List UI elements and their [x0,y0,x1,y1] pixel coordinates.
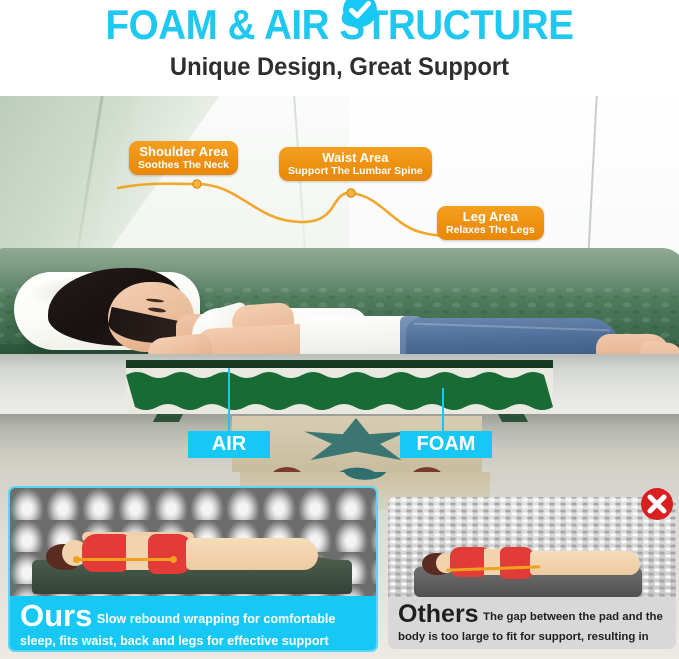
badge-waist-area: Waist Area Support The Lumbar Spine [279,147,432,181]
badge-leg-area: Leg Area Relaxes The Legs [437,206,544,240]
badge-waist-title: Waist Area [288,150,423,165]
others-figure-legs [530,551,640,575]
others-figure-swimsuit-bottom [500,547,534,579]
ours-caption: Ours Slow rebound wrapping for comfortab… [10,596,376,652]
ours-figure-swimsuit-top [82,534,130,572]
ours-spine-dot-hip [170,556,177,563]
others-label: Others [398,600,479,628]
others-figure-swimsuit-top [450,547,488,577]
pad-edge-right [498,414,528,422]
x-icon [640,487,674,521]
infographic-page: Shoulder Area Soothes The Neck Waist Are… [0,0,679,659]
cross-section-body [126,368,553,414]
badge-shoulder-title: Shoulder Area [138,144,229,159]
ours-figure-legs [186,538,318,570]
others-caption: Others The gap between the pad and the b… [388,597,676,649]
foam-wave-layer [126,368,553,414]
badge-leg-title: Leg Area [446,209,535,224]
label-air: AIR [188,431,270,458]
label-foam: FOAM [400,431,492,458]
badge-leg-subtitle: Relaxes The Legs [446,224,535,236]
panel-ours: Ours Slow rebound wrapping for comfortab… [8,486,378,652]
page-title: FOAM & AIR STRUCTURE [27,2,652,48]
check-icon [342,0,378,28]
badge-waist-subtitle: Support The Lumbar Spine [288,165,423,177]
pad-edge-left [153,414,183,422]
ours-label: Ours [20,598,92,633]
foam-pointer-line [442,388,444,434]
page-subtitle: Unique Design, Great Support [17,52,662,82]
header: FOAM & AIR STRUCTURE Unique Design, Grea… [0,0,679,96]
badge-shoulder-subtitle: Soothes The Neck [138,159,229,171]
air-pointer-line [228,368,230,434]
pad-cross-section [0,360,679,472]
ours-spine-alignment-line [76,558,176,561]
ours-spine-dot-head [73,556,80,563]
panel-others: Others The gap between the pad and the b… [388,497,676,649]
badge-shoulder-area: Shoulder Area Soothes The Neck [129,141,238,175]
